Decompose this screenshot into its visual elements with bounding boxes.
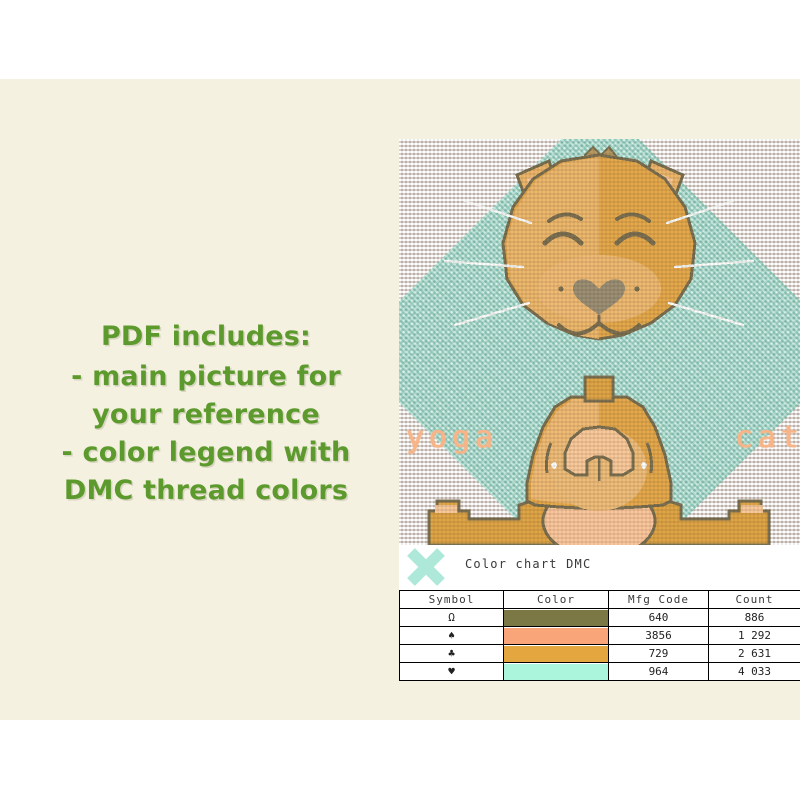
promo-text-block: PDF includes: - main picture for your re… bbox=[36, 318, 376, 510]
cross-stitch-preview: yoga cat bbox=[399, 139, 800, 545]
row-count: 4 033 bbox=[709, 663, 800, 681]
color-chart-table-wrapper: Symbol Color Mfg Code Count Ω 640 886 ♠ bbox=[399, 590, 800, 681]
table-row: ♥ 964 4 033 bbox=[400, 663, 800, 681]
row-mfg-code: 729 bbox=[609, 645, 709, 663]
yoga-cat-illustration bbox=[399, 139, 800, 545]
promo-line-1: - main picture for bbox=[36, 358, 376, 396]
legend-header: Color chart DMC bbox=[399, 545, 800, 590]
stitched-word-cat: cat bbox=[735, 420, 800, 455]
stitched-word-yoga: yoga bbox=[406, 420, 498, 455]
color-swatch bbox=[504, 646, 608, 662]
table-row: ♣ 729 2 631 bbox=[400, 645, 800, 663]
row-mfg-code: 640 bbox=[609, 609, 709, 627]
row-symbol: Ω bbox=[400, 609, 504, 627]
row-mfg-code: 3856 bbox=[609, 627, 709, 645]
row-color-swatch-cell bbox=[504, 627, 609, 645]
row-symbol: ♣ bbox=[400, 645, 504, 663]
column-header-symbol: Symbol bbox=[400, 591, 504, 609]
row-count: 1 292 bbox=[709, 627, 800, 645]
table-header-row: Symbol Color Mfg Code Count bbox=[400, 591, 800, 609]
table-row: Ω 640 886 bbox=[400, 609, 800, 627]
color-swatch bbox=[504, 628, 608, 644]
color-swatch bbox=[504, 610, 608, 626]
promo-line-2: your reference bbox=[36, 396, 376, 434]
table-row: ♠ 3856 1 292 bbox=[400, 627, 800, 645]
column-header-mfg-code: Mfg Code bbox=[609, 591, 709, 609]
poster-canvas: PDF includes: - main picture for your re… bbox=[0, 0, 800, 800]
row-color-swatch-cell bbox=[504, 663, 609, 681]
row-mfg-code: 964 bbox=[609, 663, 709, 681]
row-color-swatch-cell bbox=[504, 645, 609, 663]
color-swatch bbox=[504, 664, 608, 680]
column-header-count: Count bbox=[709, 591, 800, 609]
promo-line-3: - color legend with bbox=[36, 434, 376, 472]
color-chart-table: Symbol Color Mfg Code Count Ω 640 886 ♠ bbox=[399, 590, 800, 681]
column-header-color: Color bbox=[504, 591, 609, 609]
promo-line-4: DMC thread colors bbox=[36, 472, 376, 510]
promo-line-0: PDF includes: bbox=[36, 318, 376, 356]
row-count: 886 bbox=[709, 609, 800, 627]
row-symbol: ♥ bbox=[400, 663, 504, 681]
cross-stitch-x-icon bbox=[405, 546, 447, 588]
row-color-swatch-cell bbox=[504, 609, 609, 627]
legend-title: Color chart DMC bbox=[465, 557, 591, 571]
row-symbol: ♠ bbox=[400, 627, 504, 645]
row-count: 2 631 bbox=[709, 645, 800, 663]
